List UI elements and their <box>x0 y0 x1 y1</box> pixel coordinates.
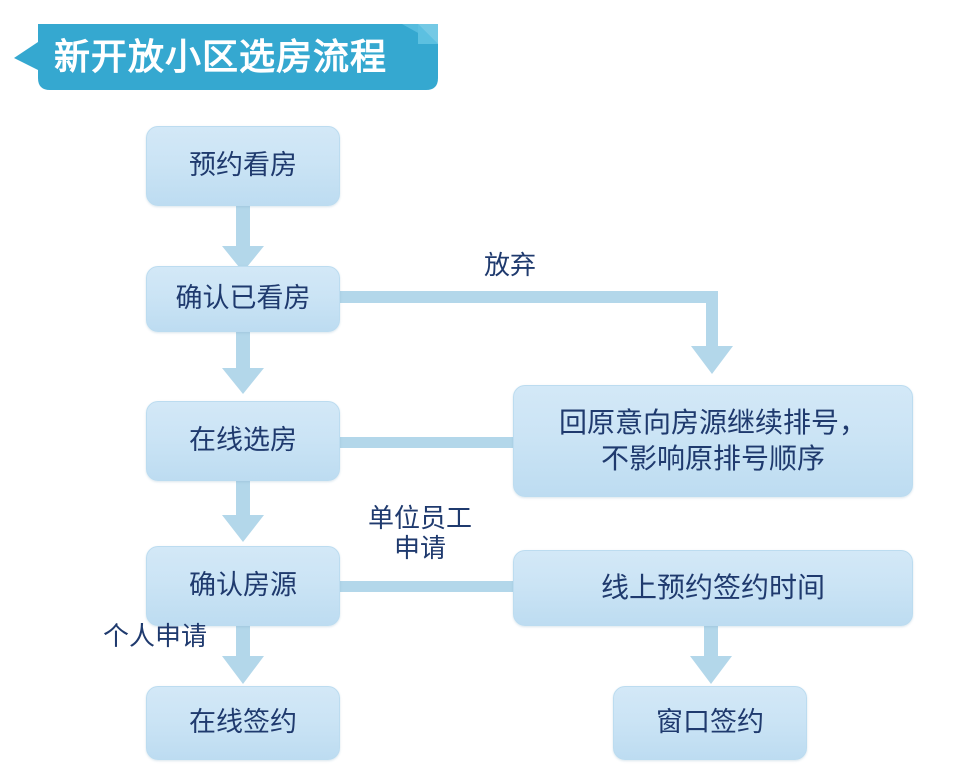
node-label: 在线选房 <box>189 423 297 458</box>
connector-confirm-property-to-online-appointment <box>340 581 516 592</box>
arrow-confirm-property-to-online-sign <box>222 626 264 684</box>
node-label: 预约看房 <box>189 148 297 183</box>
arrow-online-appointment-to-window-sign <box>690 626 732 684</box>
arrow-online-select-to-confirm-property <box>222 481 264 542</box>
edge-label-give-up: 放弃 <box>444 252 576 282</box>
node-online-appointment[interactable]: 线上预约签约时间 <box>513 550 913 626</box>
node-confirm-property[interactable]: 确认房源 <box>146 546 340 626</box>
arrow-confirm-viewed-to-return-queue-giveup <box>340 291 733 374</box>
arrow-book-viewing-to-confirm-viewed <box>222 206 264 272</box>
arrow-confirm-viewed-to-online-select <box>222 332 264 394</box>
node-label: 确认房源 <box>189 568 297 603</box>
node-label: 在线签约 <box>189 705 297 740</box>
edge-label-unit-employee-apply: 单位员工 申请 <box>346 505 494 565</box>
node-label: 线上预约签约时间 <box>601 570 825 606</box>
node-label: 回原意向房源继续排号， 不影响原排号顺序 <box>559 405 867 478</box>
connector-online-select-to-return-queue <box>340 437 516 448</box>
node-confirm-viewed[interactable]: 确认已看房 <box>146 266 340 332</box>
node-window-sign[interactable]: 窗口签约 <box>613 686 807 760</box>
flowchart-canvas: 新开放小区选房流程 .conn { fill: #b3d7ea; } <box>0 0 958 779</box>
edge-label-personal-apply: 个人申请 <box>84 623 226 653</box>
node-online-select[interactable]: 在线选房 <box>146 401 340 481</box>
node-return-queue[interactable]: 回原意向房源继续排号， 不影响原排号顺序 <box>513 385 913 497</box>
node-label: 窗口签约 <box>656 705 764 740</box>
node-book-viewing[interactable]: 预约看房 <box>146 126 340 206</box>
node-online-sign[interactable]: 在线签约 <box>146 686 340 760</box>
node-label: 确认已看房 <box>176 281 311 316</box>
